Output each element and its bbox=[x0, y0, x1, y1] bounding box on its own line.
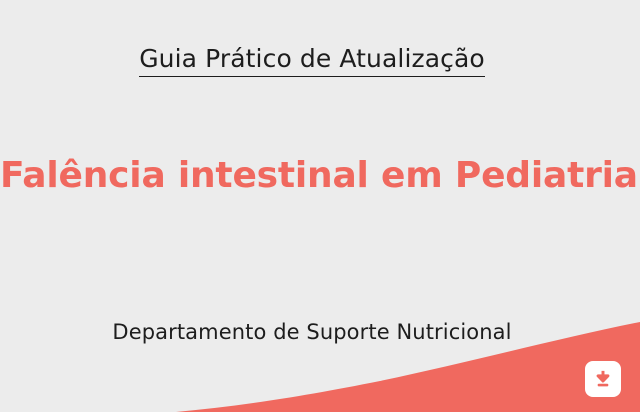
kicker-text: Guia Prático de Atualização bbox=[139, 44, 485, 77]
slide-canvas: Guia Prático de Atualização Falência int… bbox=[0, 0, 640, 412]
subtitle-department: Departamento de Suporte Nutricional bbox=[0, 320, 624, 344]
download-icon bbox=[592, 368, 614, 390]
kicker-heading: Guia Prático de Atualização bbox=[0, 44, 624, 73]
download-button[interactable] bbox=[585, 361, 621, 397]
page-title: Falência intestinal em Pediatria bbox=[0, 155, 630, 196]
